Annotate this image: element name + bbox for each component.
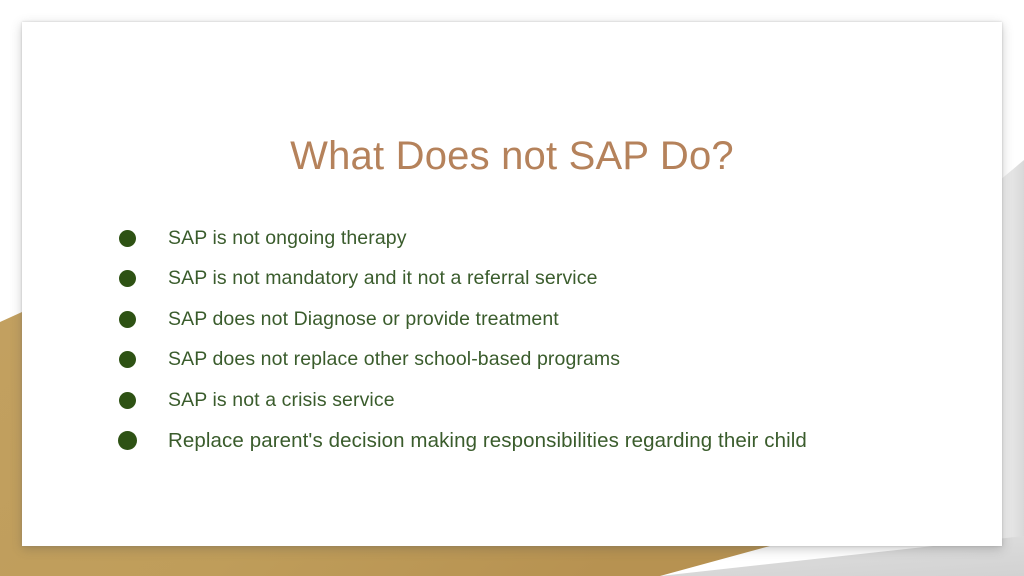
list-item: SAP is not ongoing therapy xyxy=(114,218,962,259)
bullet-dot-icon xyxy=(119,230,136,247)
bullet-dot-icon xyxy=(119,270,136,287)
bullet-dot-icon xyxy=(119,351,136,368)
list-item-label: SAP does not replace other school-based … xyxy=(168,348,962,371)
bullet-dot-icon xyxy=(119,392,136,409)
list-item-label: SAP is not a crisis service xyxy=(168,389,962,412)
slide: What Does not SAP Do? SAP is not ongoing… xyxy=(0,0,1024,576)
gray-wedge-right xyxy=(1000,160,1024,576)
bullet-dot-icon xyxy=(119,311,136,328)
list-item: SAP does not Diagnose or provide treatme… xyxy=(114,299,962,340)
list-item-label: SAP is not mandatory and it not a referr… xyxy=(168,267,962,290)
list-item-label: Replace parent's decision making respons… xyxy=(168,429,962,453)
list-item: SAP does not replace other school-based … xyxy=(114,340,962,381)
list-item-label: SAP is not ongoing therapy xyxy=(168,227,962,250)
list-item: Replace parent's decision making respons… xyxy=(114,421,962,462)
bullet-list: SAP is not ongoing therapy SAP is not ma… xyxy=(114,218,962,461)
list-item: SAP is not mandatory and it not a referr… xyxy=(114,259,962,300)
slide-card: What Does not SAP Do? SAP is not ongoing… xyxy=(22,22,1002,546)
list-item: SAP is not a crisis service xyxy=(114,380,962,421)
list-item-label: SAP does not Diagnose or provide treatme… xyxy=(168,308,962,331)
page-title: What Does not SAP Do? xyxy=(22,134,1002,179)
bullet-dot-icon xyxy=(118,431,137,450)
